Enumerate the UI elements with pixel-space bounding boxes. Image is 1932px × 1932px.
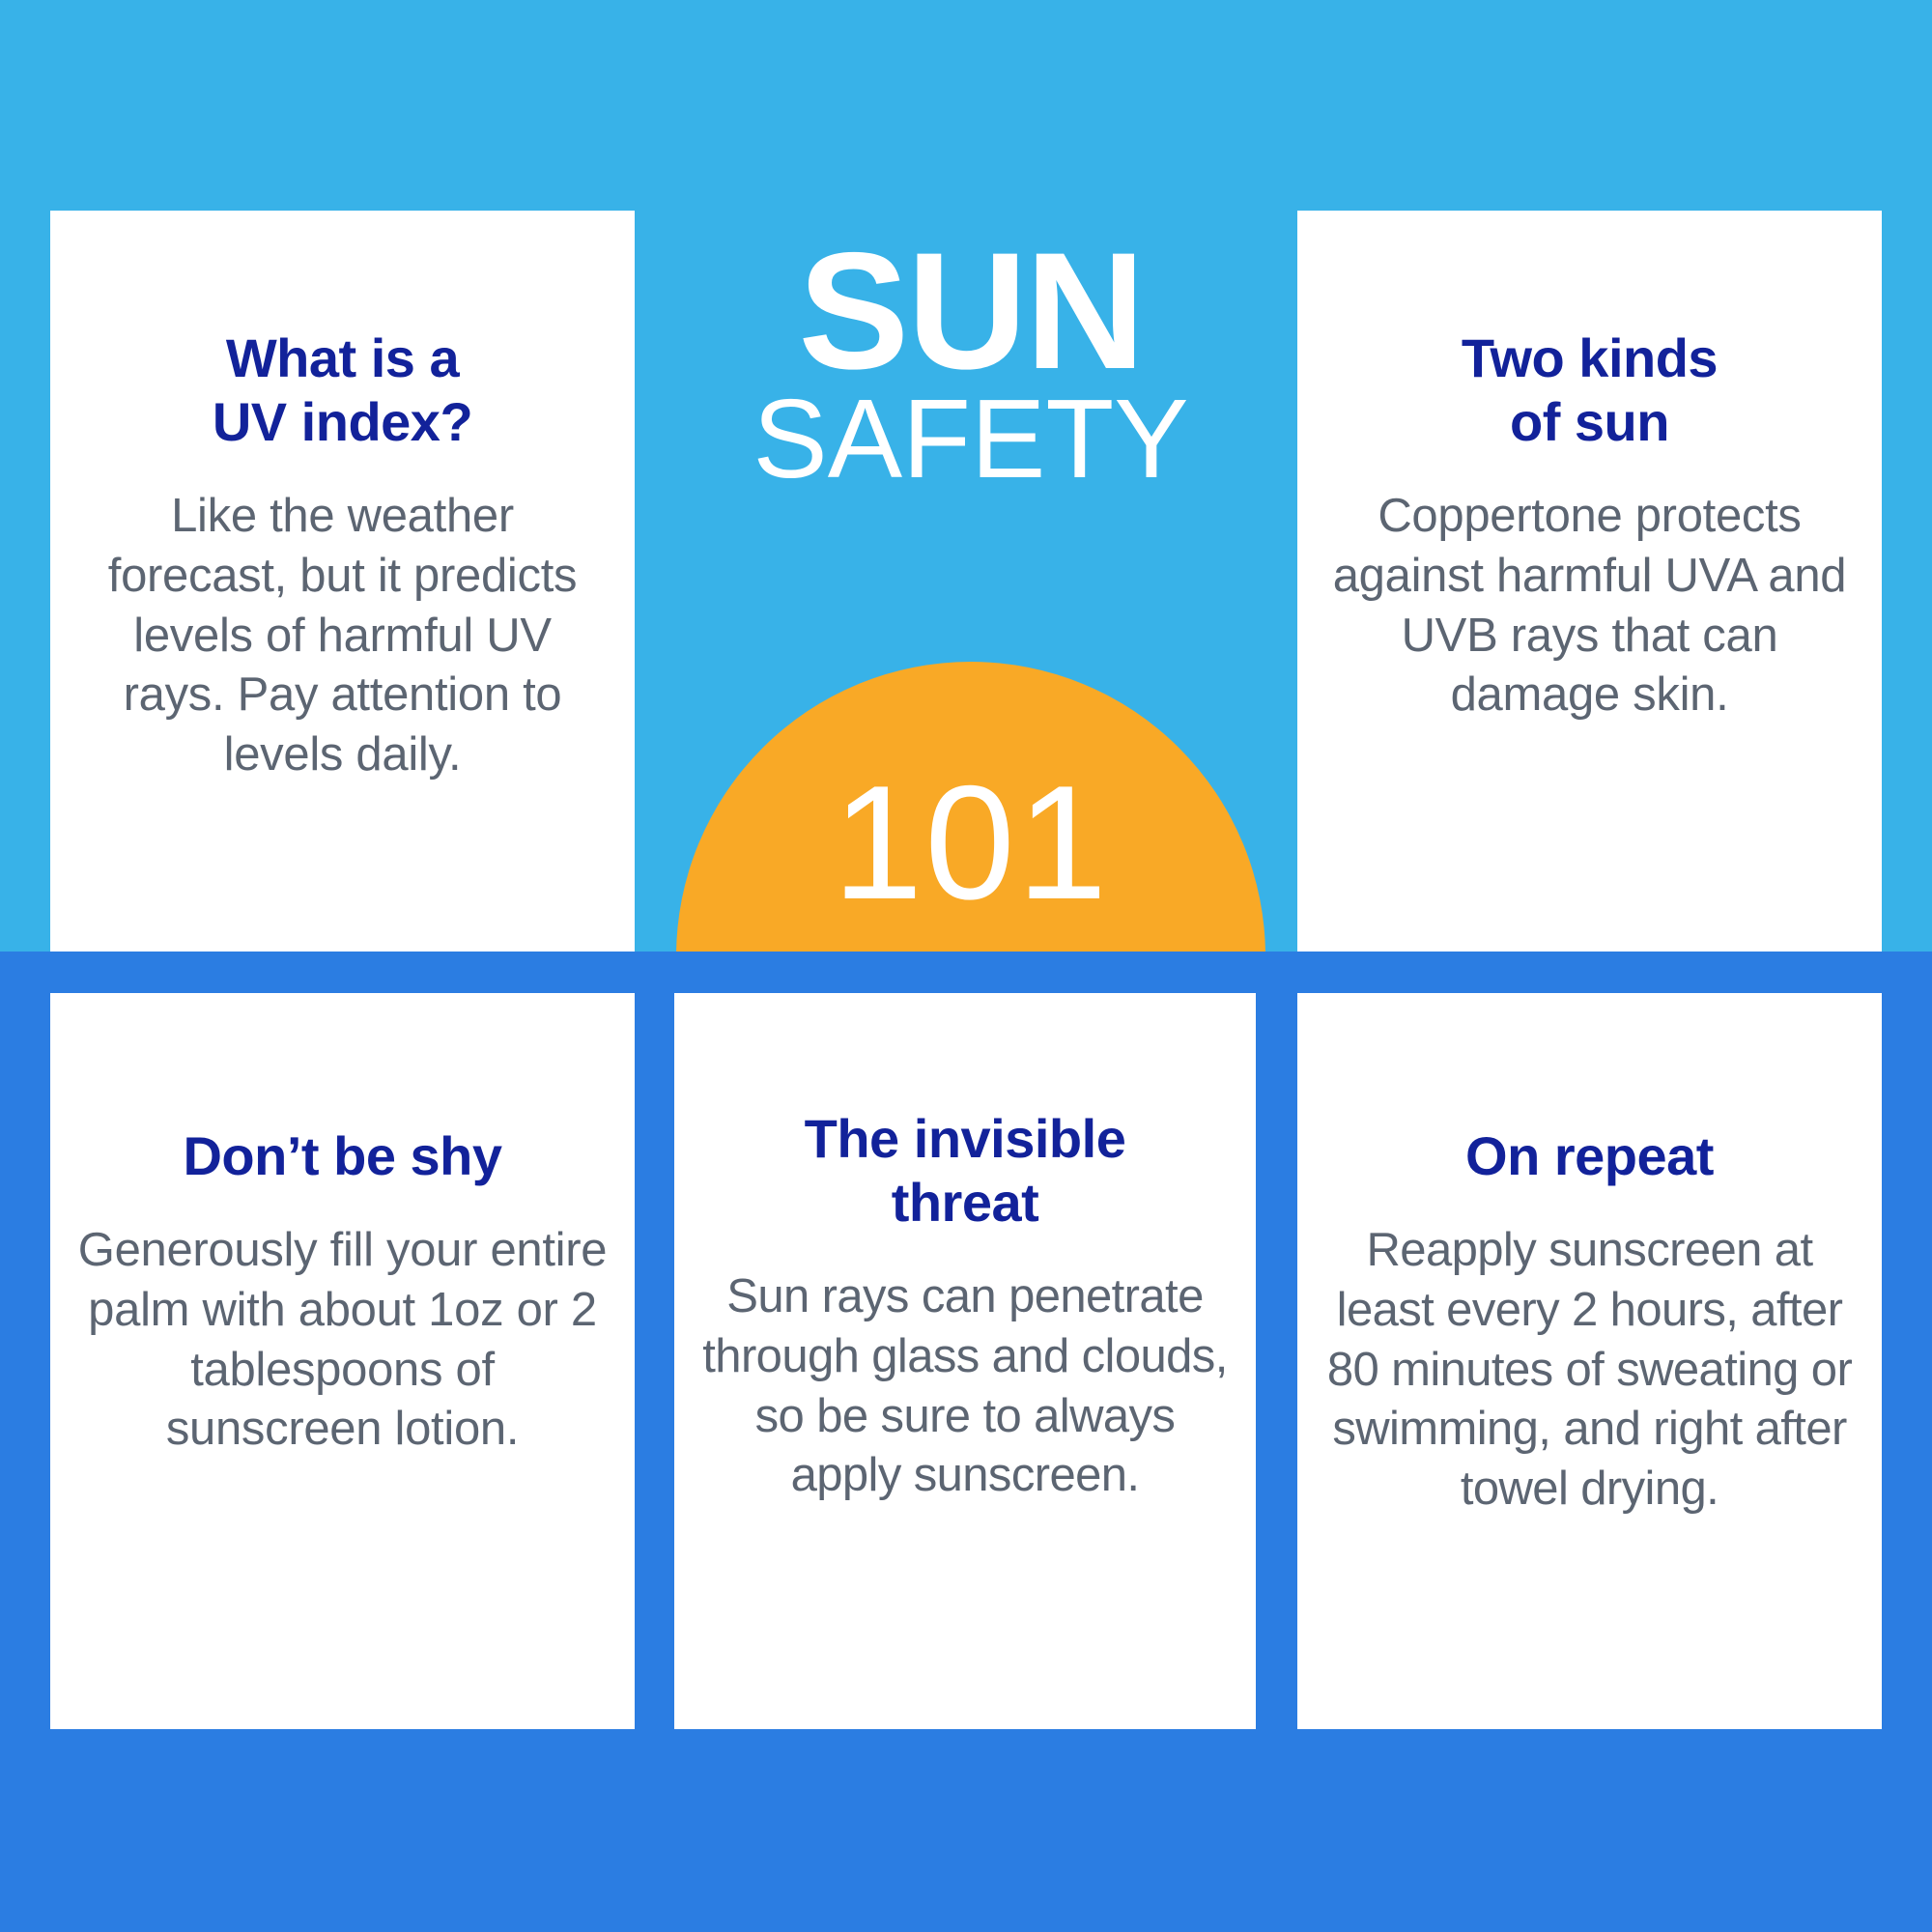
card-invisible-threat-title: The invisiblethreat xyxy=(701,1107,1229,1235)
card-dont-be-shy: Don’t be shy Generously fill your entire… xyxy=(50,993,635,1729)
brand-title-sun: SUN xyxy=(609,228,1333,394)
card-dont-be-shy-body: Generously fill your entire palm with ab… xyxy=(77,1221,608,1460)
card-uv-index: What is aUV index? Like the weather fore… xyxy=(50,211,635,952)
card-on-repeat-title: On repeat xyxy=(1324,1124,1855,1188)
card-two-kinds-of-sun-body: Coppertone protects against harmful UVA … xyxy=(1324,487,1855,725)
brand-badge-101: 101 xyxy=(609,761,1333,923)
card-invisible-threat-body: Sun rays can penetrate through glass and… xyxy=(701,1267,1229,1506)
brand-title-safety: SAFETY xyxy=(609,383,1333,495)
card-uv-index-body: Like the weather forecast, but it predic… xyxy=(77,487,608,785)
card-dont-be-shy-title: Don’t be shy xyxy=(77,1124,608,1188)
card-on-repeat: On repeat Reapply sunscreen at least eve… xyxy=(1297,993,1882,1729)
card-two-kinds-of-sun: Two kindsof sun Coppertone protects agai… xyxy=(1297,211,1882,952)
card-on-repeat-body: Reapply sunscreen at least every 2 hours… xyxy=(1324,1221,1855,1520)
card-two-kinds-of-sun-title: Two kindsof sun xyxy=(1324,327,1855,454)
brand-block: SUN SAFETY 101 xyxy=(609,211,1333,952)
card-invisible-threat: The invisiblethreat Sun rays can penetra… xyxy=(674,993,1256,1729)
card-uv-index-title: What is aUV index? xyxy=(77,327,608,454)
infographic-canvas: SUN SAFETY 101 What is aUV index? Like t… xyxy=(0,0,1932,1932)
